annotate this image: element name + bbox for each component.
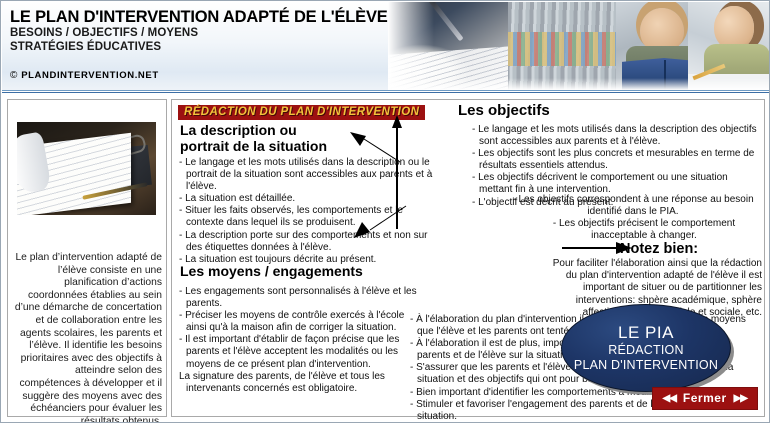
header-text-block: LE PLAN D'INTERVENTION ADAPTÉ DE L'ÉLÈVE… (10, 8, 388, 54)
intro-paragraph: Le plan d’intervention adapté de l’élève… (14, 252, 162, 423)
bullet: - Les engagements sont personnalisés à l… (179, 286, 417, 310)
description-title-line1: La description ou (180, 122, 327, 138)
double-right-arrow-icon: ▶▶ (734, 393, 747, 404)
central-ellipse-le-pia: LE PIA RÉDACTION PLAN D'INTERVENTION (561, 304, 731, 392)
section-title-objectifs: Les objectifs (458, 103, 550, 119)
main-panel: RÉDACTION DU PLAN D'INTERVENTION La desc… (171, 99, 765, 417)
photo-bottom-fade (388, 78, 770, 90)
page-root: LE PLAN D'INTERVENTION ADAPTÉ DE L'ÉLÈVE… (0, 0, 770, 423)
page-title: LE PLAN D'INTERVENTION ADAPTÉ DE L'ÉLÈVE (10, 8, 388, 27)
header-divider (2, 90, 770, 95)
bullet: La signature des parents, de l'élève et … (179, 371, 417, 395)
objectifs-indent-bullet-2: - Les objectifs précisent le comportemen… (524, 218, 764, 242)
arrow-right-icon (562, 242, 632, 254)
bullet: - Le langage et les mots utilisés dans l… (472, 124, 762, 148)
ellipse-line-1: LE PIA (618, 323, 674, 343)
copyright-icon: © (10, 70, 18, 81)
header-subtitle-1: BESOINS / OBJECTIFS / MOYENS (10, 27, 388, 41)
bullet: - Préciser les moyens de contrôle exercé… (179, 310, 417, 334)
photo-fade-overlay (388, 2, 434, 90)
header-subtitle-2: STRATÉGIES ÉDUCATIVES (10, 41, 388, 55)
photo-girl-writing-at-desk (688, 2, 770, 90)
close-button-label: Fermer (683, 391, 727, 405)
left-photo-notepad (17, 122, 156, 215)
close-button[interactable]: ◀◀ Fermer ▶▶ (652, 387, 758, 410)
header-photo-collage (388, 2, 770, 90)
arrow-to-description-icon (350, 132, 402, 164)
copyright-line: © PLANDINTERVENTION.NET (10, 70, 159, 81)
bullet: - Il est important d'établir de façon pr… (179, 334, 417, 370)
ellipse-line-2: RÉDACTION (608, 343, 683, 358)
copyright-text: PLANDINTERVENTION.NET (21, 70, 159, 81)
page-header: LE PLAN D'INTERVENTION ADAPTÉ DE L'ÉLÈVE… (2, 2, 770, 90)
objectifs-indent-bullet-1: - Les objectifs correspondent à une répo… (502, 194, 764, 218)
description-title-line2: portrait de la situation (180, 138, 327, 154)
section-title-description: La description ou portrait de la situati… (180, 122, 327, 154)
section-title-moyens: Les moyens / engagements (180, 263, 363, 279)
red-section-banner: RÉDACTION DU PLAN D'INTERVENTION (178, 105, 425, 120)
bullet: - Les objectifs sont les plus concrets e… (472, 148, 762, 172)
bullet: - Les objectifs décrivent le comportemen… (472, 172, 762, 196)
moyens-bullets: - Les engagements sont personnalisés à l… (179, 286, 417, 395)
ellipse-line-3: PLAN D'INTERVENTION (574, 358, 718, 373)
double-left-arrow-icon: ◀◀ (663, 393, 676, 404)
left-panel: Le plan d’intervention adapté de l’élève… (7, 99, 167, 417)
arrow-to-moyens-icon (354, 204, 408, 238)
